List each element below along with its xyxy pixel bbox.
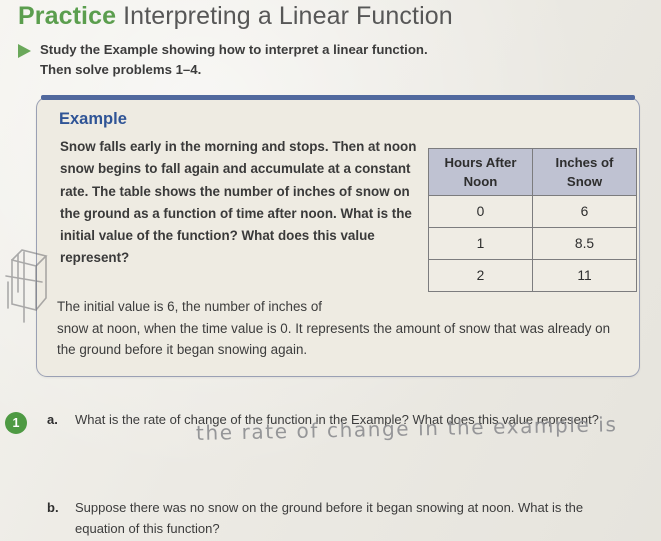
table-cell-hours: 0: [429, 196, 533, 228]
example-heading: Example: [59, 110, 127, 129]
problem-1-part-b-wrapper: b. Suppose there was no snow on the grou…: [5, 498, 625, 539]
arrow-right-triangle-icon: [18, 44, 31, 58]
problem-number-badge: 1: [5, 412, 27, 434]
table-row: 0 6: [429, 196, 637, 228]
page-title-subject: Interpreting a Linear Function: [123, 2, 453, 30]
page-title-label: Practice: [18, 2, 116, 30]
example-problem-text: Snow falls early in the morning and stop…: [60, 136, 432, 270]
example-box-topbar: [41, 95, 635, 100]
table-header-inches-line2: Snow: [533, 172, 636, 191]
problem-1-part-b: b. Suppose there was no snow on the grou…: [75, 498, 625, 539]
example-answer-text: The initial value is 6, the number of in…: [57, 296, 623, 361]
table-header-hours-line1: Hours After: [444, 155, 516, 170]
part-label-a: a.: [47, 410, 58, 431]
table-header-inches-line1: Inches of: [556, 155, 614, 170]
snow-data-table: Hours After Noon Inches of Snow 0 6 1 8.…: [428, 148, 637, 292]
part-b-question-text: Suppose there was no snow on the ground …: [75, 500, 583, 536]
table-cell-inches: 11: [533, 260, 637, 292]
table-header-row: Hours After Noon Inches of Snow: [429, 149, 637, 196]
example-answer-line-2: snow at noon, when the time value is 0. …: [57, 321, 610, 358]
table-header-inches: Inches of Snow: [533, 149, 637, 196]
directions-line-2: Then solve problems 1–4.: [40, 62, 201, 77]
table-cell-hours: 1: [429, 228, 533, 260]
directions-text: Study the Example showing how to interpr…: [40, 40, 428, 80]
table-cell-inches: 6: [533, 196, 637, 228]
table-row: 2 11: [429, 260, 637, 292]
table-header-hours: Hours After Noon: [429, 149, 533, 196]
part-label-b: b.: [47, 498, 59, 519]
page-title: Practice Interpreting a Linear Function: [18, 2, 453, 31]
example-answer-line-1: The initial value is 6, the number of in…: [57, 296, 407, 318]
directions-line-1: Study the Example showing how to interpr…: [40, 42, 428, 57]
pencil-doodle-icon: [2, 232, 48, 334]
table-header-hours-line2: Noon: [429, 172, 532, 191]
directions: Study the Example showing how to interpr…: [18, 40, 538, 80]
table-cell-hours: 2: [429, 260, 533, 292]
table-row: 1 8.5: [429, 228, 637, 260]
table-cell-inches: 8.5: [533, 228, 637, 260]
example-box: Example Snow falls early in the morning …: [36, 97, 640, 377]
